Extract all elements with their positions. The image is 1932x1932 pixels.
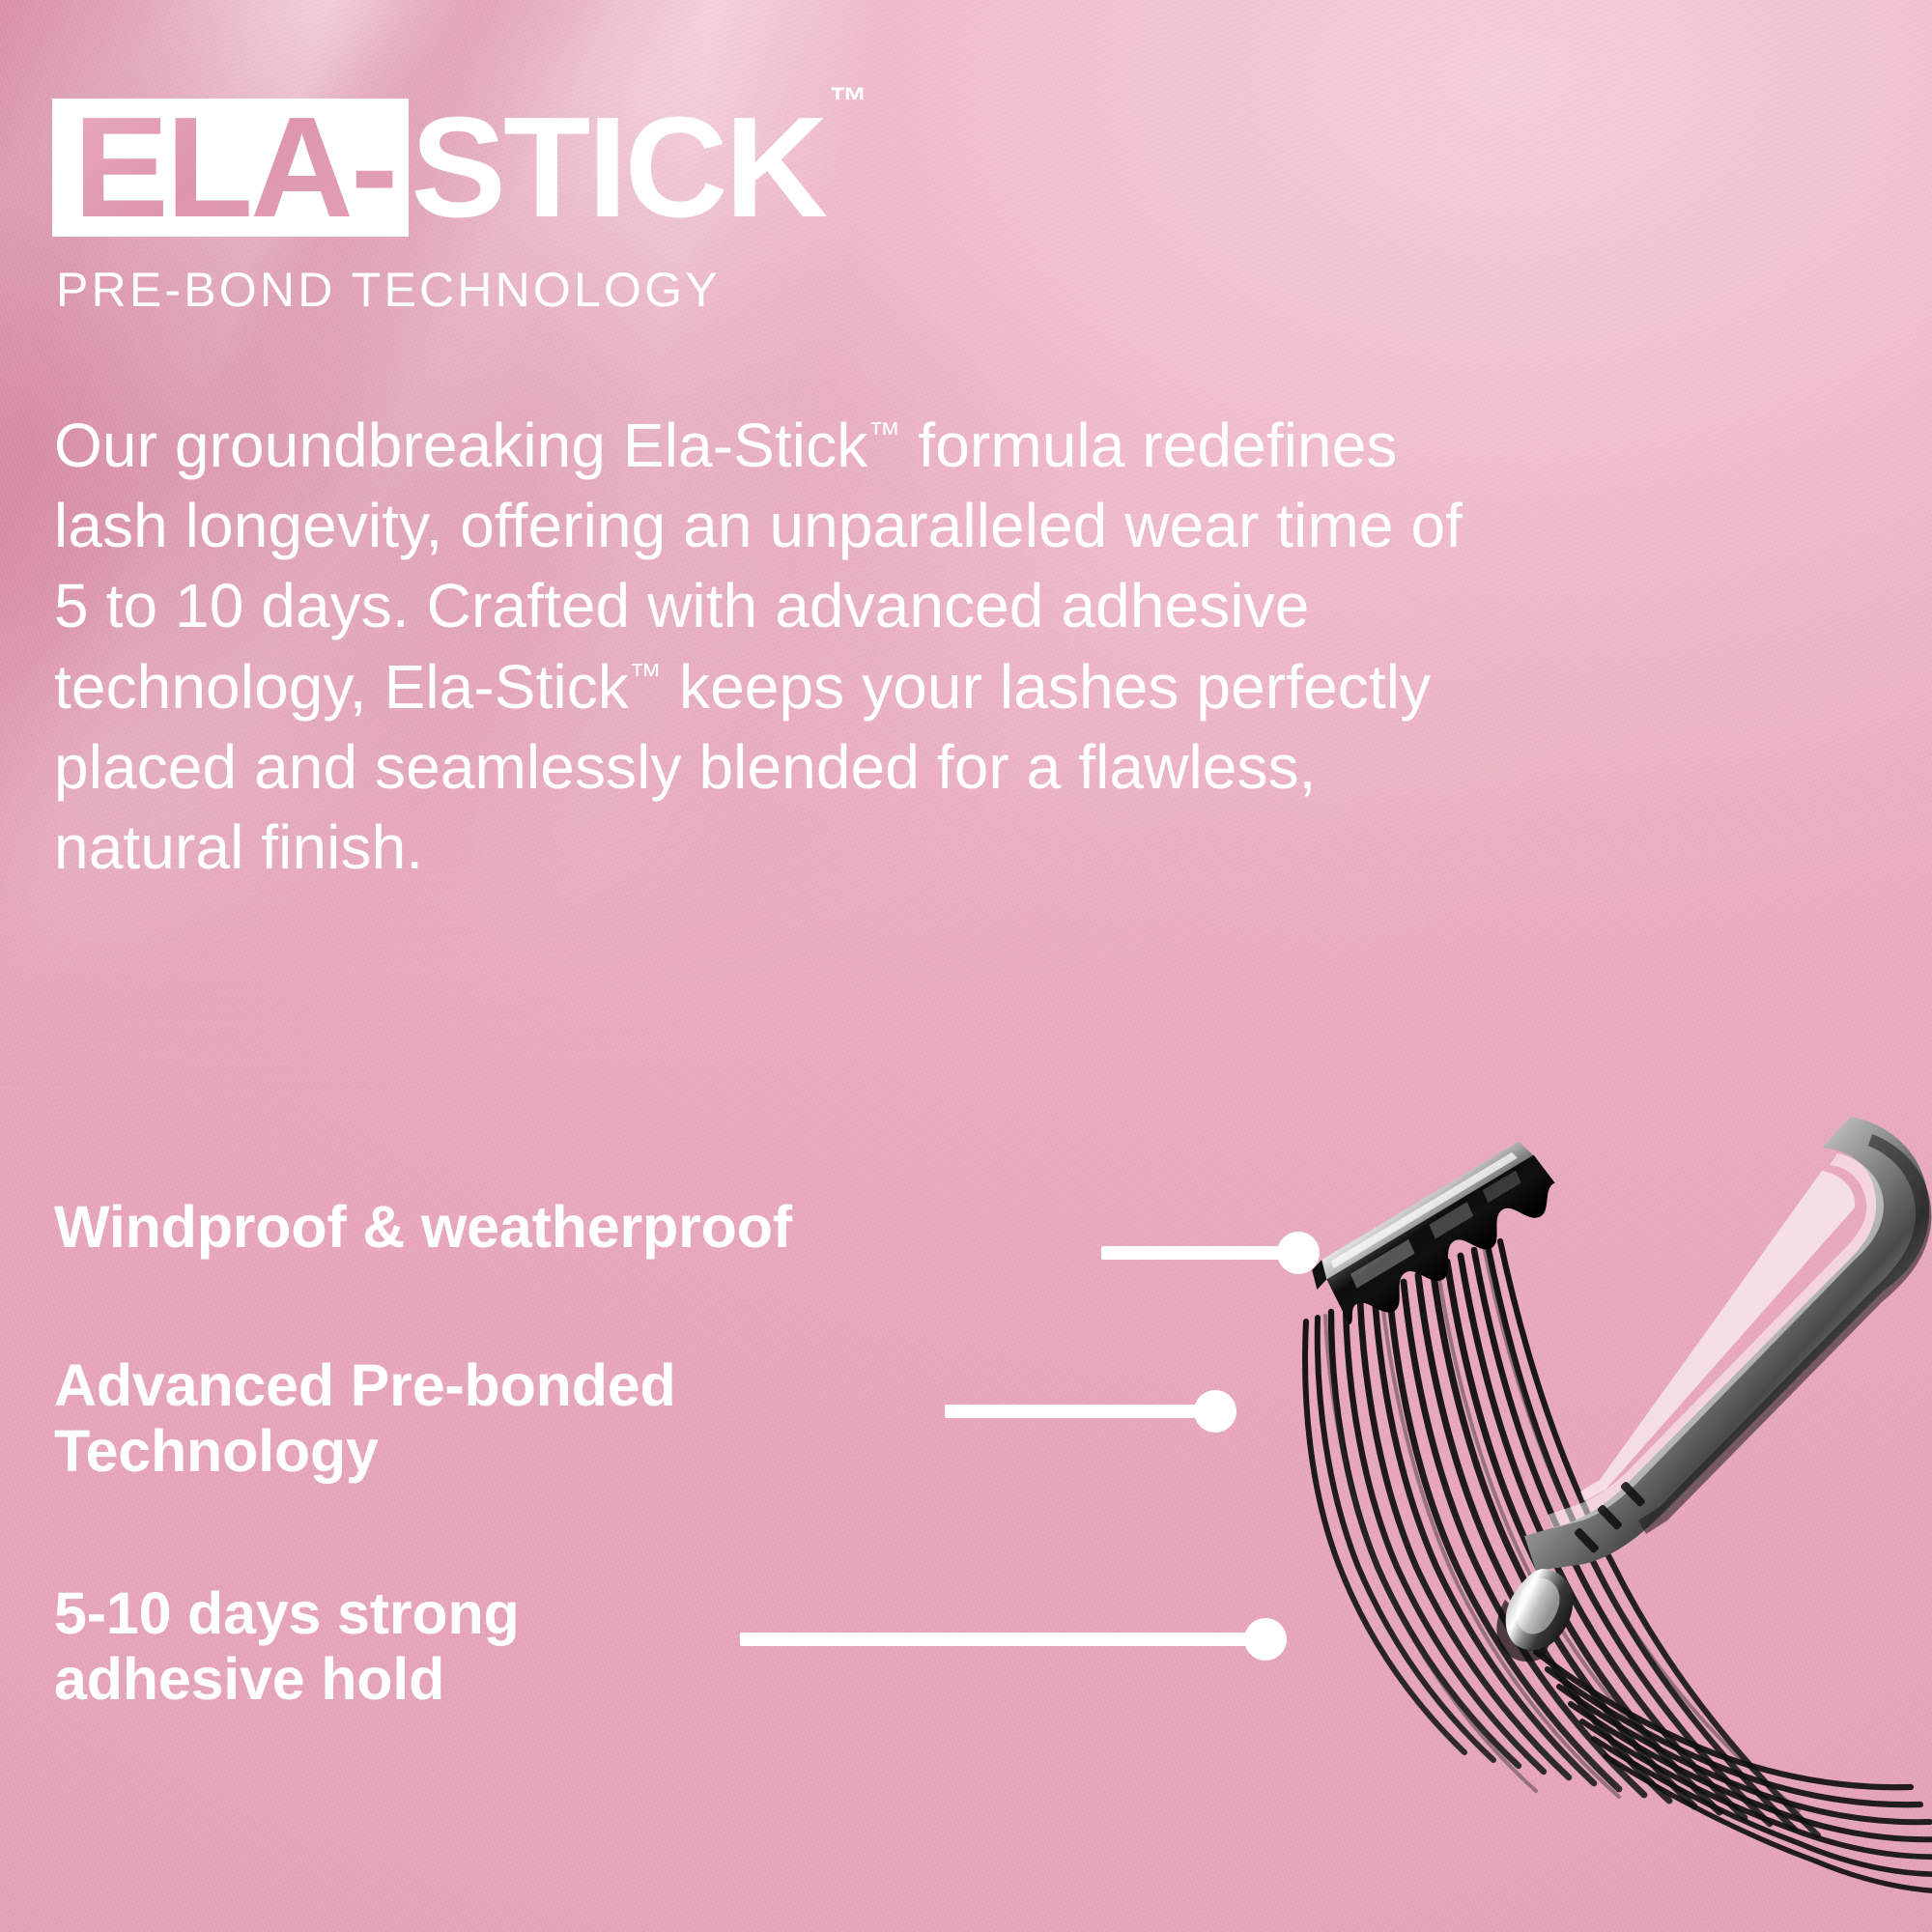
lash-cluster-with-tweezers-image — [1246, 1111, 1932, 1932]
brand-subtitle: PRE-BOND TECHNOLOGY — [56, 262, 865, 318]
brand-logo-wordmark: ELA- STICK™ — [52, 99, 865, 237]
feature-connector-line-2 — [945, 1405, 1201, 1418]
feature-label-3: 5-10 days strong adhesive hold — [54, 1580, 520, 1713]
brand-logo: ELA- STICK™ PRE-BOND TECHNOLOGY — [52, 99, 865, 318]
feature-label-1: Windproof & weatherproof — [54, 1194, 792, 1260]
poster-content: ELA- STICK™ PRE-BOND TECHNOLOGY Our grou… — [0, 0, 1932, 1932]
poster-canvas: ELA- STICK™ PRE-BOND TECHNOLOGY Our grou… — [0, 0, 1932, 1932]
description-paragraph: Our groundbreaking Ela-Stick™ formula re… — [54, 406, 1503, 888]
feature-connector-dot-2 — [1194, 1390, 1236, 1433]
description-trademark-1: ™ — [867, 416, 900, 453]
logo-boxed-segment: ELA- — [52, 99, 409, 237]
feature-connector-line-3 — [740, 1633, 1252, 1646]
feature-label-2: Advanced Pre-bonded Technology — [54, 1352, 676, 1485]
description-part-1: Our groundbreaking Ela-Stick — [54, 411, 867, 480]
logo-rest-text: STICK™ — [411, 99, 865, 223]
description-trademark-2: ™ — [629, 657, 662, 694]
logo-boxed-text: ELA- — [73, 112, 395, 223]
trademark-symbol: ™ — [829, 80, 865, 123]
